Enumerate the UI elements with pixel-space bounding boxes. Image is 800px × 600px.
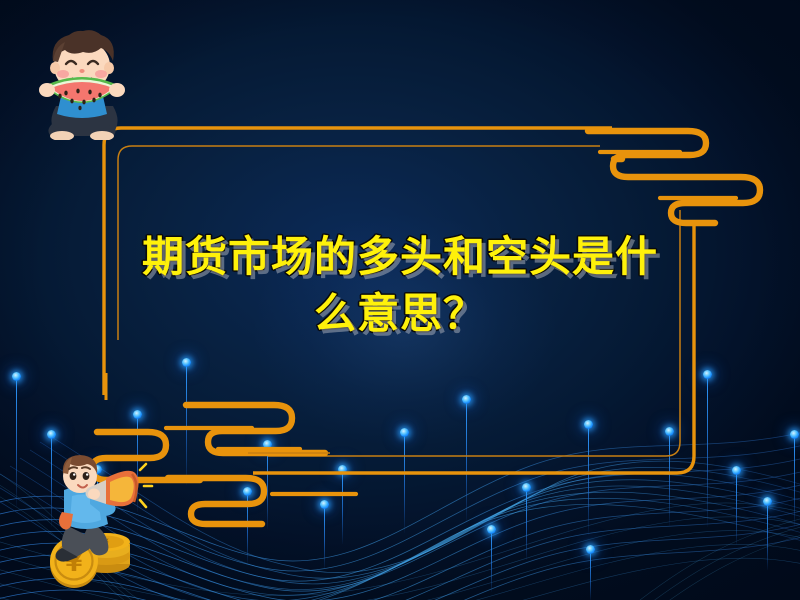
slide-canvas: ¥ ¥ <box>0 0 800 600</box>
glow-dot-stem <box>794 437 795 527</box>
glow-dot <box>732 466 741 547</box>
glow-dot <box>665 427 674 528</box>
glow-dot-bead <box>665 427 674 436</box>
glow-dot-bead <box>462 395 471 404</box>
glow-dot <box>763 497 772 572</box>
glow-dot-stem <box>247 494 248 564</box>
glow-dot-bead <box>790 430 799 439</box>
glow-dot-stem <box>590 552 591 600</box>
glow-dot <box>487 525 496 594</box>
glow-dot-bead <box>586 545 595 554</box>
glow-dot-bead <box>12 372 21 381</box>
glow-dot <box>320 500 329 571</box>
glow-dot-bead <box>584 420 593 429</box>
glow-dot-stem <box>588 427 589 535</box>
glow-dot-stem <box>466 402 467 522</box>
illustration-man-with-megaphone: ¥ ¥ <box>28 452 156 598</box>
glow-dot-stem <box>767 504 768 570</box>
glow-dot <box>462 395 471 524</box>
slide-title: 期货市场的多头和空头是什 么意思？ <box>120 228 680 342</box>
glow-dot-bead <box>320 500 329 509</box>
glow-dot <box>243 487 252 566</box>
glow-dot <box>586 545 595 600</box>
glow-dot-bead <box>732 466 741 475</box>
glow-dot-stem <box>526 490 527 560</box>
glow-dot-stem <box>707 377 708 527</box>
glow-dot <box>12 372 21 509</box>
glow-dot <box>522 483 531 562</box>
glow-dot-bead <box>522 483 531 492</box>
glow-dot-bead <box>47 430 56 439</box>
glow-dot-stem <box>186 365 187 485</box>
glow-dot <box>182 358 191 487</box>
glow-dot-stem <box>324 507 325 569</box>
glow-dot-bead <box>703 370 712 379</box>
glow-dot-bead <box>243 487 252 496</box>
glow-dot-stem <box>491 532 492 592</box>
glow-dot-stem <box>267 447 268 529</box>
glow-dot-bead <box>763 497 772 506</box>
glow-dot-bead <box>338 465 347 474</box>
glow-dot <box>584 420 593 537</box>
glow-dot <box>263 440 272 531</box>
glow-dot-stem <box>404 435 405 533</box>
glow-dot <box>790 430 799 529</box>
glow-dot-bead <box>487 525 496 534</box>
glow-dot <box>400 428 409 535</box>
glow-dot-bead <box>263 440 272 449</box>
glow-dot-stem <box>669 434 670 526</box>
glow-dot-stem <box>342 472 343 544</box>
glow-dot <box>338 465 347 546</box>
glow-dot-bead <box>400 428 409 437</box>
glow-dot-bead <box>182 358 191 367</box>
glow-dot <box>703 370 712 529</box>
glow-dot-bead <box>133 410 142 419</box>
illustration-boy-eating-watermelon <box>22 14 142 140</box>
glow-dot-stem <box>16 379 17 507</box>
glow-dot-stem <box>736 473 737 545</box>
